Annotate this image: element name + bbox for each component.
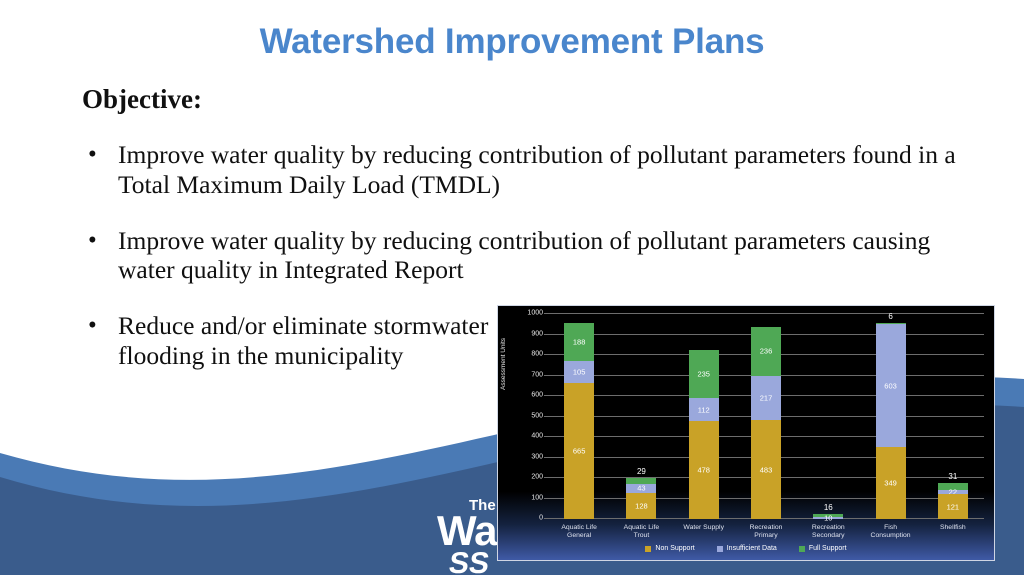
y-axis-tick-label: 500 [531, 412, 543, 419]
x-axis-label-line: Fish [860, 524, 922, 532]
chart-bar-total-label: 6 [860, 312, 922, 321]
chart-stacked-bar[interactable]: 236217483 [751, 327, 781, 519]
chart-segment-value-label: 236 [751, 348, 781, 356]
chart-stacked-bar[interactable]: 188105665 [564, 323, 594, 519]
legend-series-label: Non Support [655, 545, 694, 552]
x-axis-label-line: Trout [610, 532, 672, 540]
legend-color-swatch-icon [799, 546, 805, 552]
x-axis-category-label: Aquatic LifeTrout [610, 524, 672, 541]
x-axis-label-line: Water Supply [673, 524, 735, 532]
chart-segment-value-label: 478 [689, 466, 719, 474]
chart-segment-value-label: 121 [938, 503, 968, 511]
bullet-text: Improve water quality by reducing contri… [118, 140, 956, 199]
y-axis-tick-label: 800 [531, 351, 543, 358]
x-axis-category-label: Aquatic LifeGeneral [548, 524, 610, 541]
objective-heading: Objective: [82, 84, 202, 115]
chart-segment-value-label: 349 [876, 479, 906, 487]
list-item: • Reduce and/or eliminate stormwater flo… [80, 311, 513, 371]
x-axis-label-line: Recreation [797, 524, 859, 532]
chart-segment-value-label: 43 [626, 485, 656, 493]
legend-series-label: Insufficient Data [727, 545, 777, 552]
x-axis-label-line: Aquatic Life [548, 524, 610, 532]
chart-bar-segment[interactable]: 188 [564, 323, 594, 362]
chart-segment-value-label: 603 [876, 382, 906, 390]
x-axis-category-label: RecreationSecondary [797, 524, 859, 541]
chart-stacked-bar[interactable]: 10 [813, 514, 843, 519]
y-axis-tick-label: 100 [531, 494, 543, 501]
chart-bar-segment[interactable]: 478 [689, 421, 719, 519]
chart-bar-segment[interactable]: 10 [813, 517, 843, 519]
y-axis-tick-label: 300 [531, 453, 543, 460]
chart-bar-group[interactable]: 6033496 [860, 314, 922, 519]
chart-bar-segment[interactable]: 349 [876, 447, 906, 519]
chart-bar-group[interactable]: 235112478 [673, 314, 735, 519]
x-axis-label-line: Primary [735, 532, 797, 540]
slide-title: Watershed Improvement Plans [0, 22, 1024, 62]
chart-stacked-bar[interactable]: 22121 [938, 483, 968, 519]
y-axis-tick-label: 200 [531, 474, 543, 481]
chart-segment-value-label: 112 [689, 406, 719, 414]
y-axis-title: Assessment Units [500, 338, 507, 390]
chart-bar-segment[interactable]: 603 [876, 324, 906, 448]
chart-stacked-bar[interactable]: 603349 [876, 323, 906, 519]
x-axis-label-line: Secondary [797, 532, 859, 540]
chart-segment-value-label: 483 [751, 466, 781, 474]
x-axis-category-label: RecreationPrimary [735, 524, 797, 541]
chart-segment-value-label: 665 [564, 447, 594, 455]
bullet-text: Improve water quality by reducing contri… [118, 226, 930, 285]
y-axis-tick-label: 400 [531, 433, 543, 440]
chart-bar-group[interactable]: 2212131 [922, 314, 984, 519]
chart-bar-total-label: 31 [922, 472, 984, 481]
chart-legend-item[interactable]: Non Support [645, 545, 694, 552]
y-axis-tick-label: 700 [531, 371, 543, 378]
chart-bar-segment[interactable]: 43 [626, 484, 656, 493]
chart-bar-segment[interactable]: 217 [751, 376, 781, 420]
chart-segment-value-label: 128 [626, 502, 656, 510]
chart-bar-segment[interactable]: 665 [564, 383, 594, 519]
chart-stacked-bar[interactable]: 235112478 [689, 350, 719, 519]
x-axis-category-label: Shellfish [922, 524, 984, 532]
chart-legend-item[interactable]: Insufficient Data [717, 545, 777, 552]
legend-color-swatch-icon [645, 546, 651, 552]
chart-segment-value-label: 188 [564, 338, 594, 346]
bullet-glyph: • [88, 226, 97, 255]
chart-bar-segment[interactable]: 112 [689, 398, 719, 421]
chart-legend: Non SupportInsufficient DataFull Support [498, 545, 994, 552]
chart-bar-segment[interactable]: 483 [751, 420, 781, 519]
chart-plot-area: 0100200300400500600700800900100018810566… [548, 314, 984, 519]
x-axis-label-line: Recreation [735, 524, 797, 532]
legend-series-label: Full Support [809, 545, 847, 552]
stacked-bar-chart: Assessment Units 01002003004005006007008… [497, 305, 995, 561]
bullet-glyph: • [88, 140, 97, 169]
x-axis-label-line: Shellfish [922, 524, 984, 532]
chart-legend-item[interactable]: Full Support [799, 545, 847, 552]
chart-bar-group[interactable]: 188105665 [548, 314, 610, 519]
y-axis-tick-label: 1000 [527, 310, 543, 317]
y-axis-tick-label: 600 [531, 392, 543, 399]
chart-stacked-bar[interactable]: 43128 [626, 478, 656, 519]
chart-bar-group[interactable]: 1016 [797, 314, 859, 519]
y-axis-tick-label: 0 [539, 515, 543, 522]
chart-bar-segment[interactable]: 236 [751, 327, 781, 375]
x-axis-label-line: Consumption [860, 532, 922, 540]
list-item: • Improve water quality by reducing cont… [80, 226, 992, 286]
x-axis-category-label: FishConsumption [860, 524, 922, 541]
logo-swirl-icon: SS [447, 547, 492, 575]
bullet-glyph: • [88, 311, 97, 340]
chart-bar-segment[interactable]: 105 [564, 361, 594, 383]
y-axis-tick-label: 900 [531, 330, 543, 337]
x-axis-category-label: Water Supply [673, 524, 735, 532]
chart-bar-group[interactable]: 236217483 [735, 314, 797, 519]
chart-bar-segment[interactable]: 235 [689, 350, 719, 398]
x-axis-label-line: General [548, 532, 610, 540]
chart-bar-group[interactable]: 4312829 [610, 314, 672, 519]
chart-bar-segment[interactable]: 128 [626, 493, 656, 519]
chart-segment-value-label: 235 [689, 370, 719, 378]
x-axis-label-line: Aquatic Life [610, 524, 672, 532]
chart-bar-total-label: 16 [797, 503, 859, 512]
presentation-slide: Watershed Improvement Plans Objective: •… [0, 0, 1024, 575]
chart-bar-segment[interactable]: 121 [938, 494, 968, 519]
chart-segment-value-label: 217 [751, 394, 781, 402]
chart-segment-value-label: 10 [813, 514, 843, 522]
chart-segment-value-label: 105 [564, 368, 594, 376]
list-item: • Improve water quality by reducing cont… [80, 140, 992, 200]
legend-color-swatch-icon [717, 546, 723, 552]
chart-bar-total-label: 29 [610, 467, 672, 476]
bullet-text: Reduce and/or eliminate stormwater flood… [118, 311, 488, 370]
